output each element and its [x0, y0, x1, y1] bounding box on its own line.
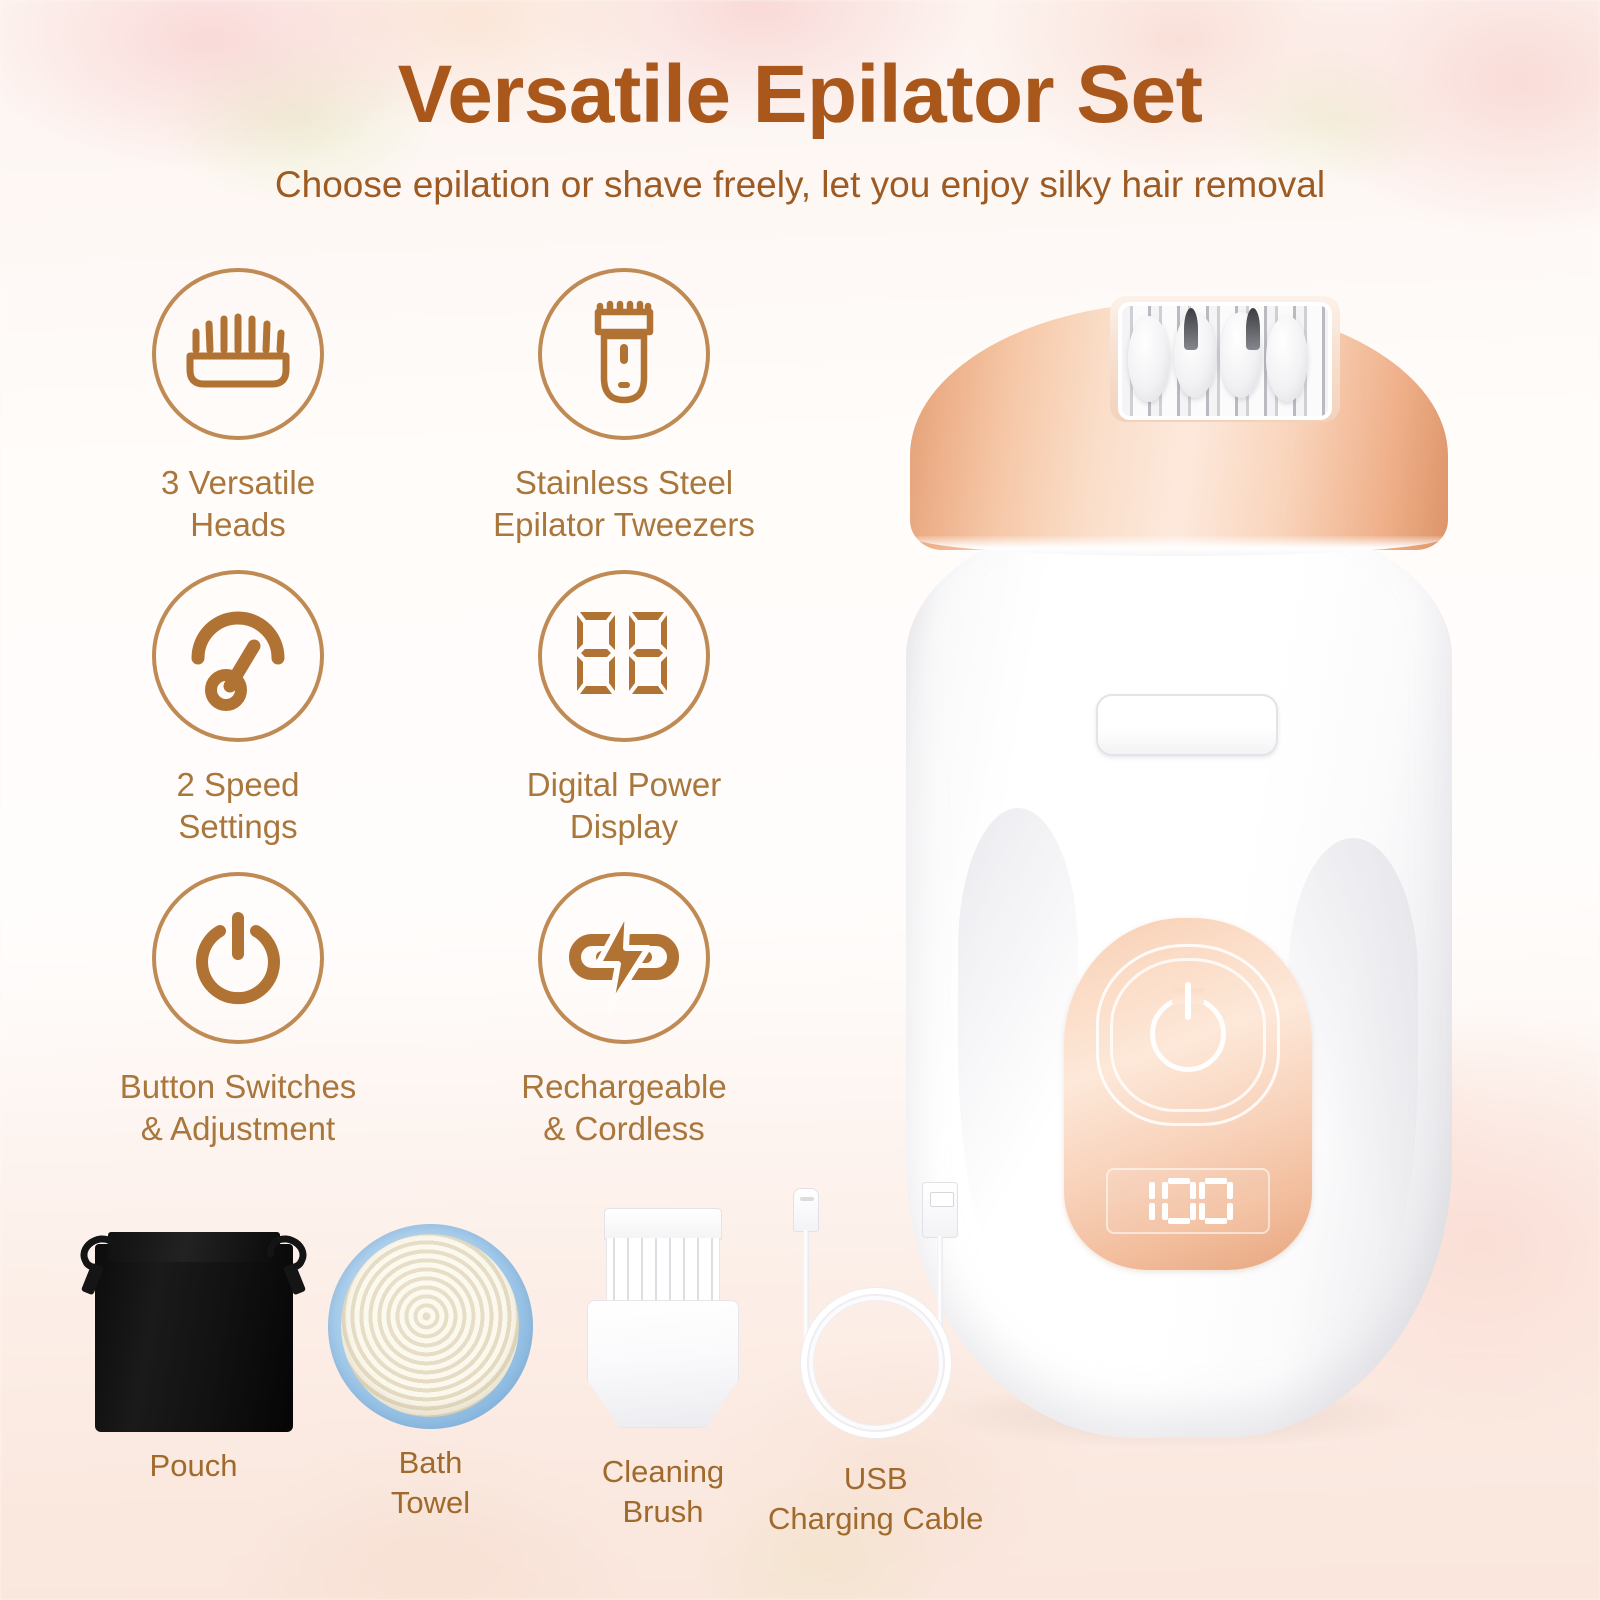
accessory-label: Cleaning Brush [602, 1452, 724, 1533]
feature-item-speed-settings: 2 Speed Settings [68, 570, 408, 872]
feature-label: 2 Speed Settings [177, 764, 300, 847]
seven-segment-88-icon [572, 608, 676, 704]
accessory-label: USB Charging Cable [768, 1459, 983, 1540]
feature-icon-circle [152, 872, 324, 1044]
page-subtitle: Choose epilation or shave freely, let yo… [0, 164, 1600, 206]
feature-item-stainless-tweezers: Stainless Steel Epilator Tweezers [454, 268, 794, 570]
feature-item-versatile-heads: 3 Versatile Heads [68, 268, 408, 570]
feature-icon-circle [538, 268, 710, 440]
accessories-row: Pouch Bath Towel Cleaning Brush [58, 1196, 1018, 1576]
accessory-usb-cable: USB Charging Cable [768, 1180, 983, 1540]
feature-label: Stainless Steel Epilator Tweezers [493, 462, 755, 545]
accessory-label: Pouch [150, 1446, 238, 1486]
feature-item-rechargeable-cordless: Rechargeable & Cordless [454, 872, 794, 1174]
feature-icon-circle [152, 570, 324, 742]
usb-charging-cable-image [768, 1180, 983, 1445]
accessory-pouch: Pouch [86, 1210, 301, 1486]
feature-item-button-switches: Button Switches & Adjustment [68, 872, 408, 1174]
feature-icon-circle [538, 570, 710, 742]
page-title: Versatile Epilator Set [0, 52, 1600, 138]
device-control-panel [1064, 918, 1312, 1270]
feature-icon-circle [152, 268, 324, 440]
usb-a-connector-icon [922, 1182, 958, 1238]
pouch-image [86, 1210, 301, 1432]
device-battery-lcd [1106, 1168, 1270, 1234]
feature-label: Rechargeable & Cordless [521, 1066, 726, 1149]
feature-label: Button Switches & Adjustment [120, 1066, 357, 1149]
feature-item-digital-display: Digital Power Display [454, 570, 794, 872]
lcd-digit-0-second [1199, 1178, 1233, 1224]
feature-grid: 3 Versatile Heads Stainless Steel Epilat… [68, 268, 828, 1174]
power-button-icon [186, 906, 290, 1010]
accessory-bath-towel: Bath Towel [328, 1224, 533, 1524]
lcd-digit-1 [1143, 1178, 1159, 1224]
bath-towel-image [328, 1224, 533, 1429]
speedometer-gauge-icon [182, 600, 294, 712]
epilator-shaver-icon [578, 296, 670, 412]
accessory-cleaning-brush: Cleaning Brush [578, 1208, 748, 1533]
accessory-label: Bath Towel [391, 1443, 470, 1524]
feature-icon-circle [538, 872, 710, 1044]
lcd-digit-0-first [1162, 1178, 1196, 1224]
header: Versatile Epilator Set Choose epilation … [0, 52, 1600, 206]
cleaning-brush-image [578, 1208, 748, 1438]
device-slider-switch[interactable] [1096, 694, 1278, 756]
epilator-head-window [1118, 302, 1332, 420]
usb-c-connector-icon [793, 1188, 819, 1232]
lightning-cordless-icon [566, 902, 682, 1014]
hair-brush-icon [184, 306, 292, 402]
feature-label: Digital Power Display [527, 764, 721, 847]
feature-label: 3 Versatile Heads [161, 462, 315, 545]
